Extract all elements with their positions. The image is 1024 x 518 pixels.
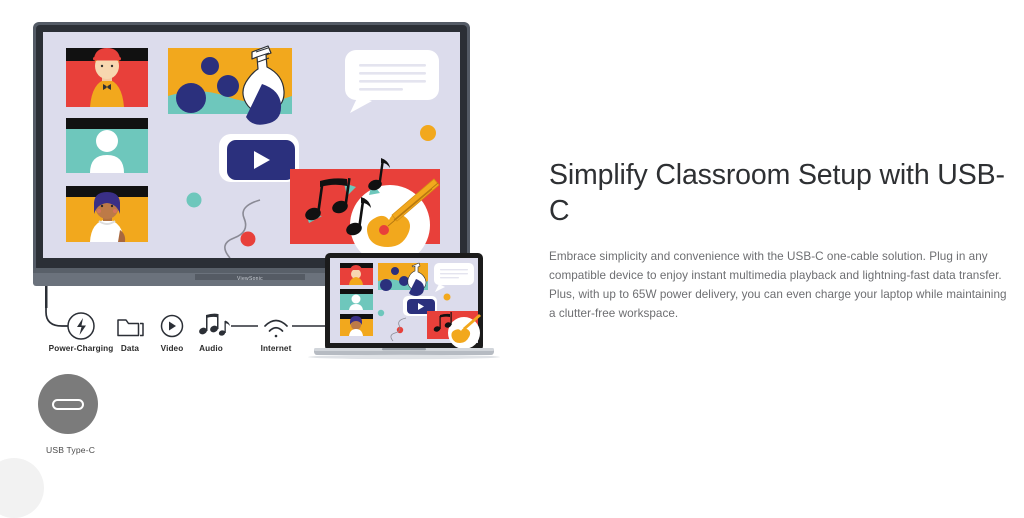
connectivity-labels: Power-Charging Data Video Audio Internet	[34, 306, 354, 366]
dot-yellow	[420, 125, 436, 141]
icon-label-power-charging: Power-Charging	[49, 344, 114, 353]
usb-type-c-badge: USB Type-C	[34, 374, 164, 455]
icon-label-internet: Internet	[261, 344, 292, 353]
usb-type-c-label: USB Type-C	[46, 445, 164, 455]
usb-c-port-shape	[52, 399, 84, 410]
video-play-tile	[219, 134, 299, 182]
usb-c-illustration: ViewSonic	[0, 0, 520, 468]
icon-label-video: Video	[161, 344, 184, 353]
video-tile-participant-teal	[66, 118, 148, 173]
feature-text-column: Simplify Classroom Setup with USB-C Embr…	[549, 158, 1011, 324]
feature-description: Embrace simplicity and convenience with …	[549, 230, 1011, 324]
brand-wordmark: ViewSonic	[237, 276, 263, 282]
usb-c-feature-section: ViewSonic	[0, 0, 1024, 468]
dot-teal	[187, 193, 202, 208]
icon-label-audio: Audio	[199, 344, 223, 353]
usb-c-port-icon	[38, 374, 98, 434]
video-tile-participant-red	[66, 48, 148, 107]
dot-red	[241, 232, 256, 247]
video-tile-participant-yellow	[66, 186, 148, 242]
page-title: Simplify Classroom Setup with USB-C	[549, 158, 1011, 230]
science-tile	[168, 46, 292, 125]
icon-label-data: Data	[121, 344, 139, 353]
